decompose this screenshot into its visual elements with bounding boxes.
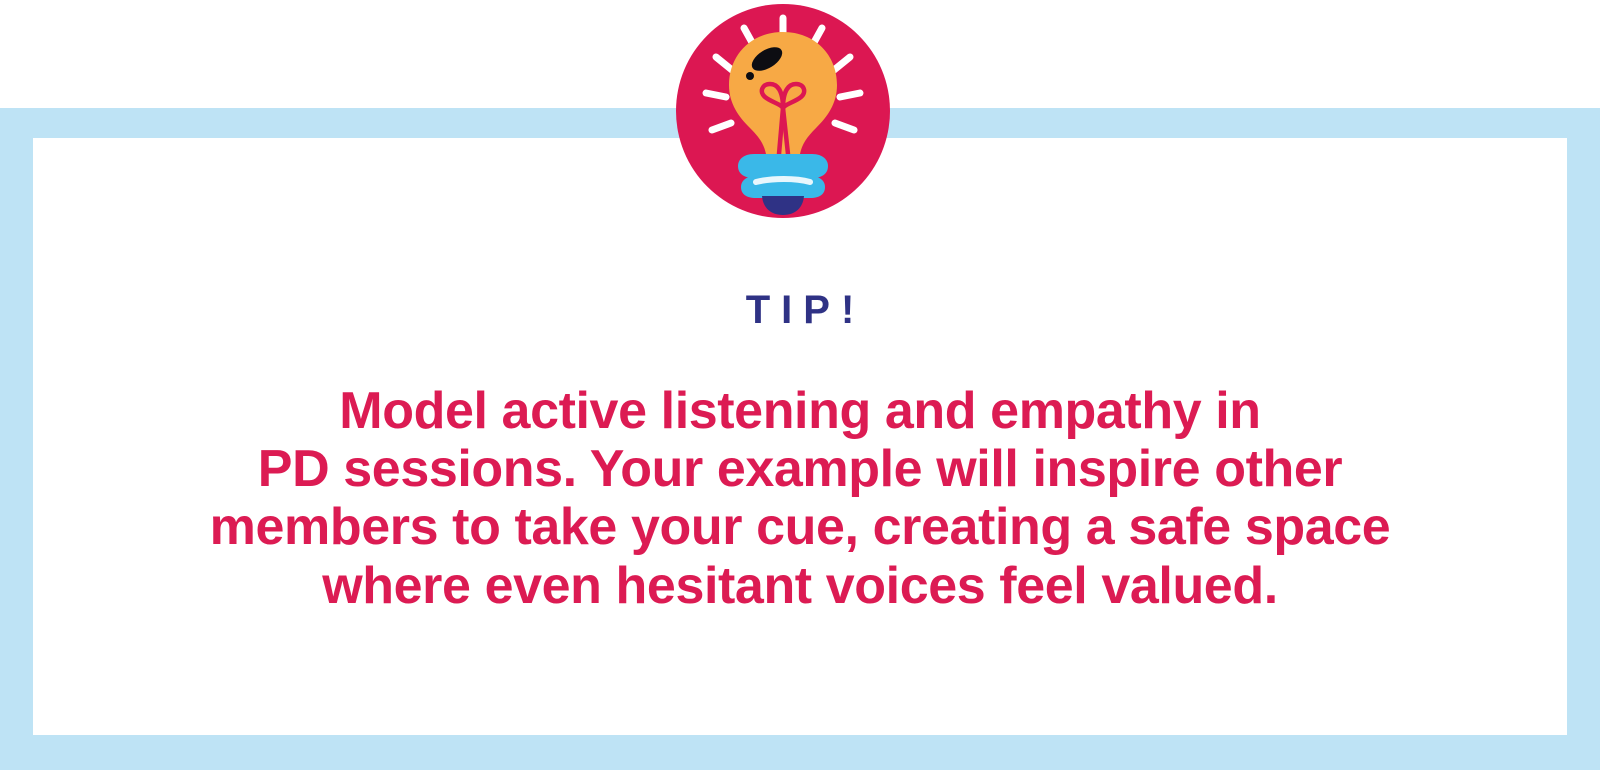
bulb-base-upper [738,154,828,178]
tip-body-line: members to take your cue, creating a saf… [120,498,1480,556]
bulb-base-highlight [756,179,810,182]
bulb-highlight-dot [746,72,754,80]
tip-card-content: TIP! Model active listening and empathy … [33,138,1567,735]
tip-body-line: Model active listening and empathy in [120,382,1480,440]
tip-body-text: Model active listening and empathy in PD… [120,382,1480,615]
tip-body-line: PD sessions. Your example will inspire o… [120,440,1480,498]
tip-body-line: where even hesitant voices feel valued. [120,557,1480,615]
lightbulb-badge [676,4,890,218]
bulb-cap [762,196,804,215]
lightbulb-icon [676,4,890,218]
tip-heading: TIP! [735,290,866,330]
